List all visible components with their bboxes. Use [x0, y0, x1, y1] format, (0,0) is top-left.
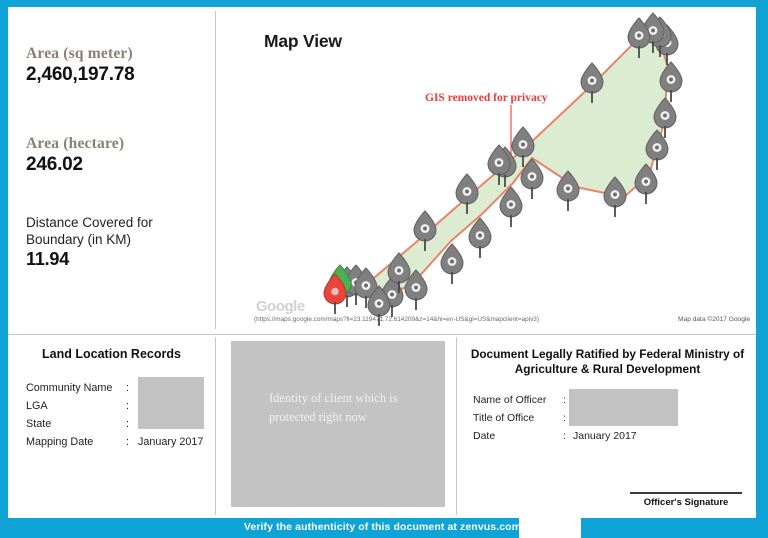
map-source-url[interactable]: (https://maps.google.com/maps?ll=23.1194…: [254, 316, 539, 323]
identity-redaction-text: Identity of client which is protected ri…: [269, 389, 429, 427]
frame-border-right: [756, 0, 768, 518]
stat-label: Area (sq meter): [26, 45, 135, 63]
frame-border-top: [8, 0, 756, 7]
ratification-title: Document Legally Ratified by Federal Min…: [465, 347, 750, 377]
certificate-document: Area (sq meter) 2,460,197.78 Area (hecta…: [0, 0, 768, 538]
stat-area-hectare: Area (hectare) 246.02: [26, 135, 124, 176]
footer-redaction-box: [519, 518, 581, 538]
ratification-panel: Document Legally Ratified by Federal Min…: [457, 335, 756, 518]
land-location-records-panel: Land Location Records Community Name : L…: [8, 335, 215, 518]
identity-redaction-box: Identity of client which is protected ri…: [231, 341, 445, 507]
ratify-key: Title of Office: [473, 409, 563, 427]
stat-value: 246.02: [26, 154, 124, 176]
ratify-colon: :: [563, 427, 573, 445]
google-watermark: Google: [256, 298, 305, 315]
ratify-row-date: Date : January 2017: [473, 427, 637, 445]
record-key: Mapping Date: [26, 433, 126, 451]
client-identity-panel: Identity of client which is protected ri…: [216, 335, 456, 518]
records-title: Land Location Records: [8, 347, 215, 361]
record-key: State: [26, 415, 126, 433]
map-view-panel[interactable]: Map View: [216, 7, 756, 334]
map-data-attribution: Map data ©2017 Google: [678, 316, 750, 323]
top-section: Area (sq meter) 2,460,197.78 Area (hecta…: [8, 7, 756, 334]
record-colon: :: [126, 397, 138, 415]
stat-value: 2,460,197.78: [26, 64, 135, 86]
record-row-mapping-date: Mapping Date : January 2017: [26, 433, 203, 451]
ratify-key: Name of Officer: [473, 391, 563, 409]
record-value: January 2017: [138, 433, 203, 451]
officer-signature-block: Officer's Signature: [630, 492, 742, 508]
stat-value: 11.94: [26, 249, 191, 270]
signature-label: Officer's Signature: [630, 497, 742, 508]
ratification-redaction-box: [569, 389, 678, 426]
ratify-key: Date: [473, 427, 563, 445]
stat-distance-boundary: Distance Covered for Boundary (in KM) 11…: [26, 214, 191, 270]
records-redaction-box: [138, 377, 204, 429]
bottom-section: Land Location Records Community Name : L…: [8, 335, 756, 518]
area-stats-panel: Area (sq meter) 2,460,197.78 Area (hecta…: [8, 7, 215, 334]
record-colon: :: [126, 433, 138, 451]
record-colon: :: [126, 379, 138, 397]
signature-line: [630, 492, 742, 494]
record-key: LGA: [26, 397, 126, 415]
stat-label: Distance Covered for Boundary (in KM): [26, 214, 191, 248]
verification-footer-bar: Verify the authenticity of this document…: [0, 518, 768, 538]
verification-footer-text[interactable]: Verify the authenticity of this document…: [0, 521, 768, 533]
frame-border-left: [0, 0, 8, 518]
map-canvas[interactable]: [216, 7, 756, 334]
document-page: Area (sq meter) 2,460,197.78 Area (hecta…: [8, 7, 756, 518]
ratify-value: January 2017: [573, 427, 637, 445]
record-key: Community Name: [26, 379, 126, 397]
record-colon: :: [126, 415, 138, 433]
stat-label: Area (hectare): [26, 135, 124, 153]
gis-privacy-note: GIS removed for privacy: [425, 92, 548, 104]
stat-area-sq-meter: Area (sq meter) 2,460,197.78: [26, 45, 135, 86]
